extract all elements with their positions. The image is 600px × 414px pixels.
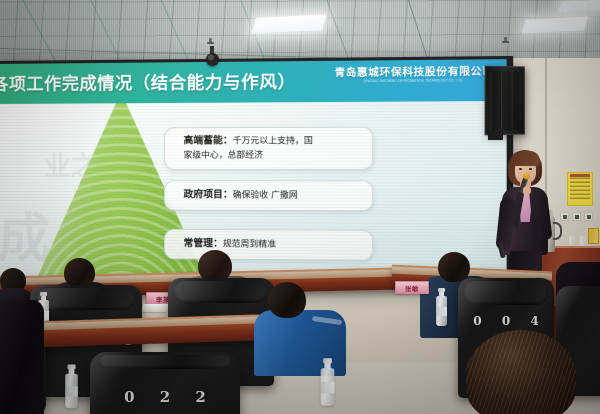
presenter-eye: [519, 168, 522, 170]
slide-title: 年各项工作完成情况（结合能力与作风）: [0, 67, 296, 95]
slide-callout-1-text: 高端蓄能：千万元以上支持，国 家级中心，总部经济: [184, 134, 313, 162]
chair-seat-022[interactable]: 0 2 2: [90, 352, 240, 414]
chair-headrest: [174, 281, 267, 303]
presenter-eye: [529, 168, 532, 170]
person-head: [64, 258, 95, 288]
presenter-fringe: [511, 151, 540, 166]
poster-text-lines: [570, 177, 590, 199]
slide-callout-1-line2: 家级中心，总部经济: [184, 151, 263, 161]
hair-texture: [466, 330, 576, 414]
slide-callout-2-label: 政府项目：: [184, 189, 233, 200]
presenter: [496, 150, 556, 270]
slide-callout-2: 政府项目：确保验收 广撒网: [164, 180, 373, 211]
water-bottle: [65, 374, 78, 409]
paper-document: [140, 304, 169, 312]
audience-person-foreground: [466, 330, 576, 414]
slide-callout-2-line1: 确保验收 广撒网: [233, 190, 298, 200]
wall-speaker: [485, 66, 525, 136]
slide-callout-1: 高端蓄能：千万元以上支持，国 家级中心，总部经济: [164, 127, 373, 170]
chair-headrest: [99, 355, 231, 369]
chair-headrest: [37, 288, 136, 310]
slide-callout-3-label: 常管理：: [184, 238, 223, 249]
seat-number: 0 0 4: [458, 314, 554, 328]
webcam-icon: [206, 53, 219, 66]
water-bottle: [436, 296, 447, 326]
conference-room-scene: 年各项工作完成情况（结合能力与作风） 青岛惠城环保科技股份有限公司 QINGDA…: [0, 0, 600, 414]
slide-callout-1-label: 高端蓄能：: [184, 135, 233, 146]
water-bottle: [321, 368, 335, 406]
light-switch-plate[interactable]: [584, 212, 593, 221]
slide-header-bar: 年各项工作完成情况（结合能力与作风） 青岛惠城环保科技股份有限公司 QINGDA…: [0, 59, 507, 104]
carton-box: [588, 228, 599, 244]
person-body: [0, 300, 44, 414]
slide-callout-3-line1: 规范周到精准: [223, 239, 276, 250]
name-placard: 张敏: [395, 281, 429, 294]
chair-headrest: [464, 281, 549, 305]
cup: [580, 236, 588, 246]
light-switch-plate[interactable]: [560, 212, 569, 221]
cup: [569, 236, 577, 246]
slide-callout-2-text: 政府项目：确保验收 广撒网: [184, 188, 298, 202]
person-head: [438, 252, 470, 282]
wall-notice-poster: [567, 172, 593, 206]
person-head: [268, 282, 306, 318]
name-placard-text: 张敏: [405, 283, 419, 293]
company-name-en: QINGDAO HUICHENG ENVIRONMENTAL TECHNOLOG…: [335, 79, 494, 84]
company-logo: 青岛惠城环保科技股份有限公司 QINGDAO HUICHENG ENVIRONM…: [335, 68, 494, 84]
audience-person: [0, 300, 44, 414]
wall-speaker-mount: [488, 131, 503, 140]
presenter-hand: [523, 186, 531, 195]
light-switch-plate[interactable]: [572, 212, 581, 221]
seat-number: 0 2 2: [90, 388, 240, 406]
slide-callout-1-line1: 千万元以上支持，国: [233, 136, 313, 146]
